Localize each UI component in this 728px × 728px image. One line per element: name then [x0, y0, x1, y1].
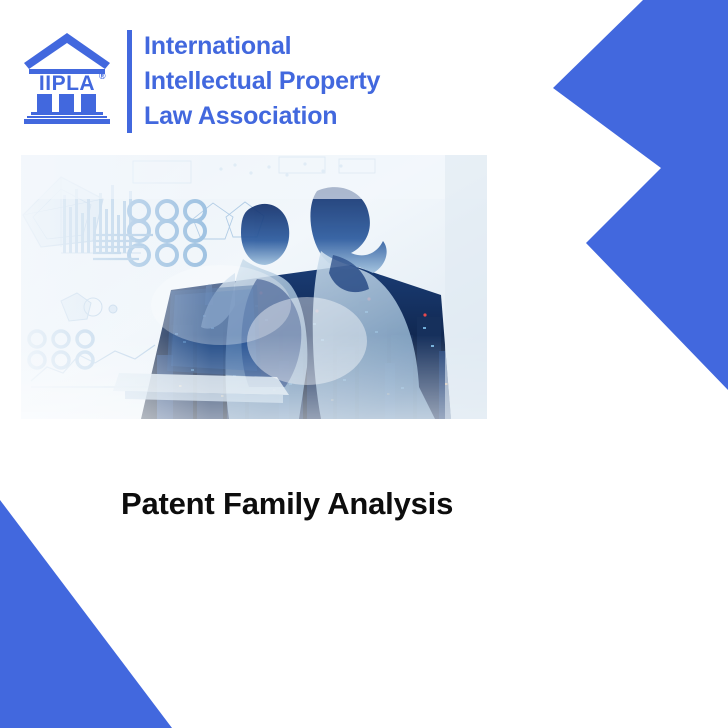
brand-text-block: International Intellectual Property Law … [144, 30, 380, 133]
slide-canvas: IIPLA ® International Intellectual Prope… [0, 0, 728, 728]
chevron-accent-shape [553, 0, 728, 390]
page-title: Patent Family Analysis [121, 486, 453, 522]
iipla-temple-logo-icon: IIPLA ® [21, 30, 113, 126]
brand-divider [127, 30, 132, 133]
hero-image [21, 155, 487, 419]
svg-text:IIPLA: IIPLA [39, 72, 95, 95]
brand-line-3: Law Association [144, 100, 380, 133]
triangle-accent-shape [0, 500, 172, 728]
svg-text:®: ® [99, 71, 106, 81]
hero-illustration [21, 155, 487, 419]
brand-line-2: Intellectual Property [144, 65, 380, 98]
brand-lockup: IIPLA ® International Intellectual Prope… [21, 30, 380, 133]
brand-line-1: International [144, 30, 380, 63]
